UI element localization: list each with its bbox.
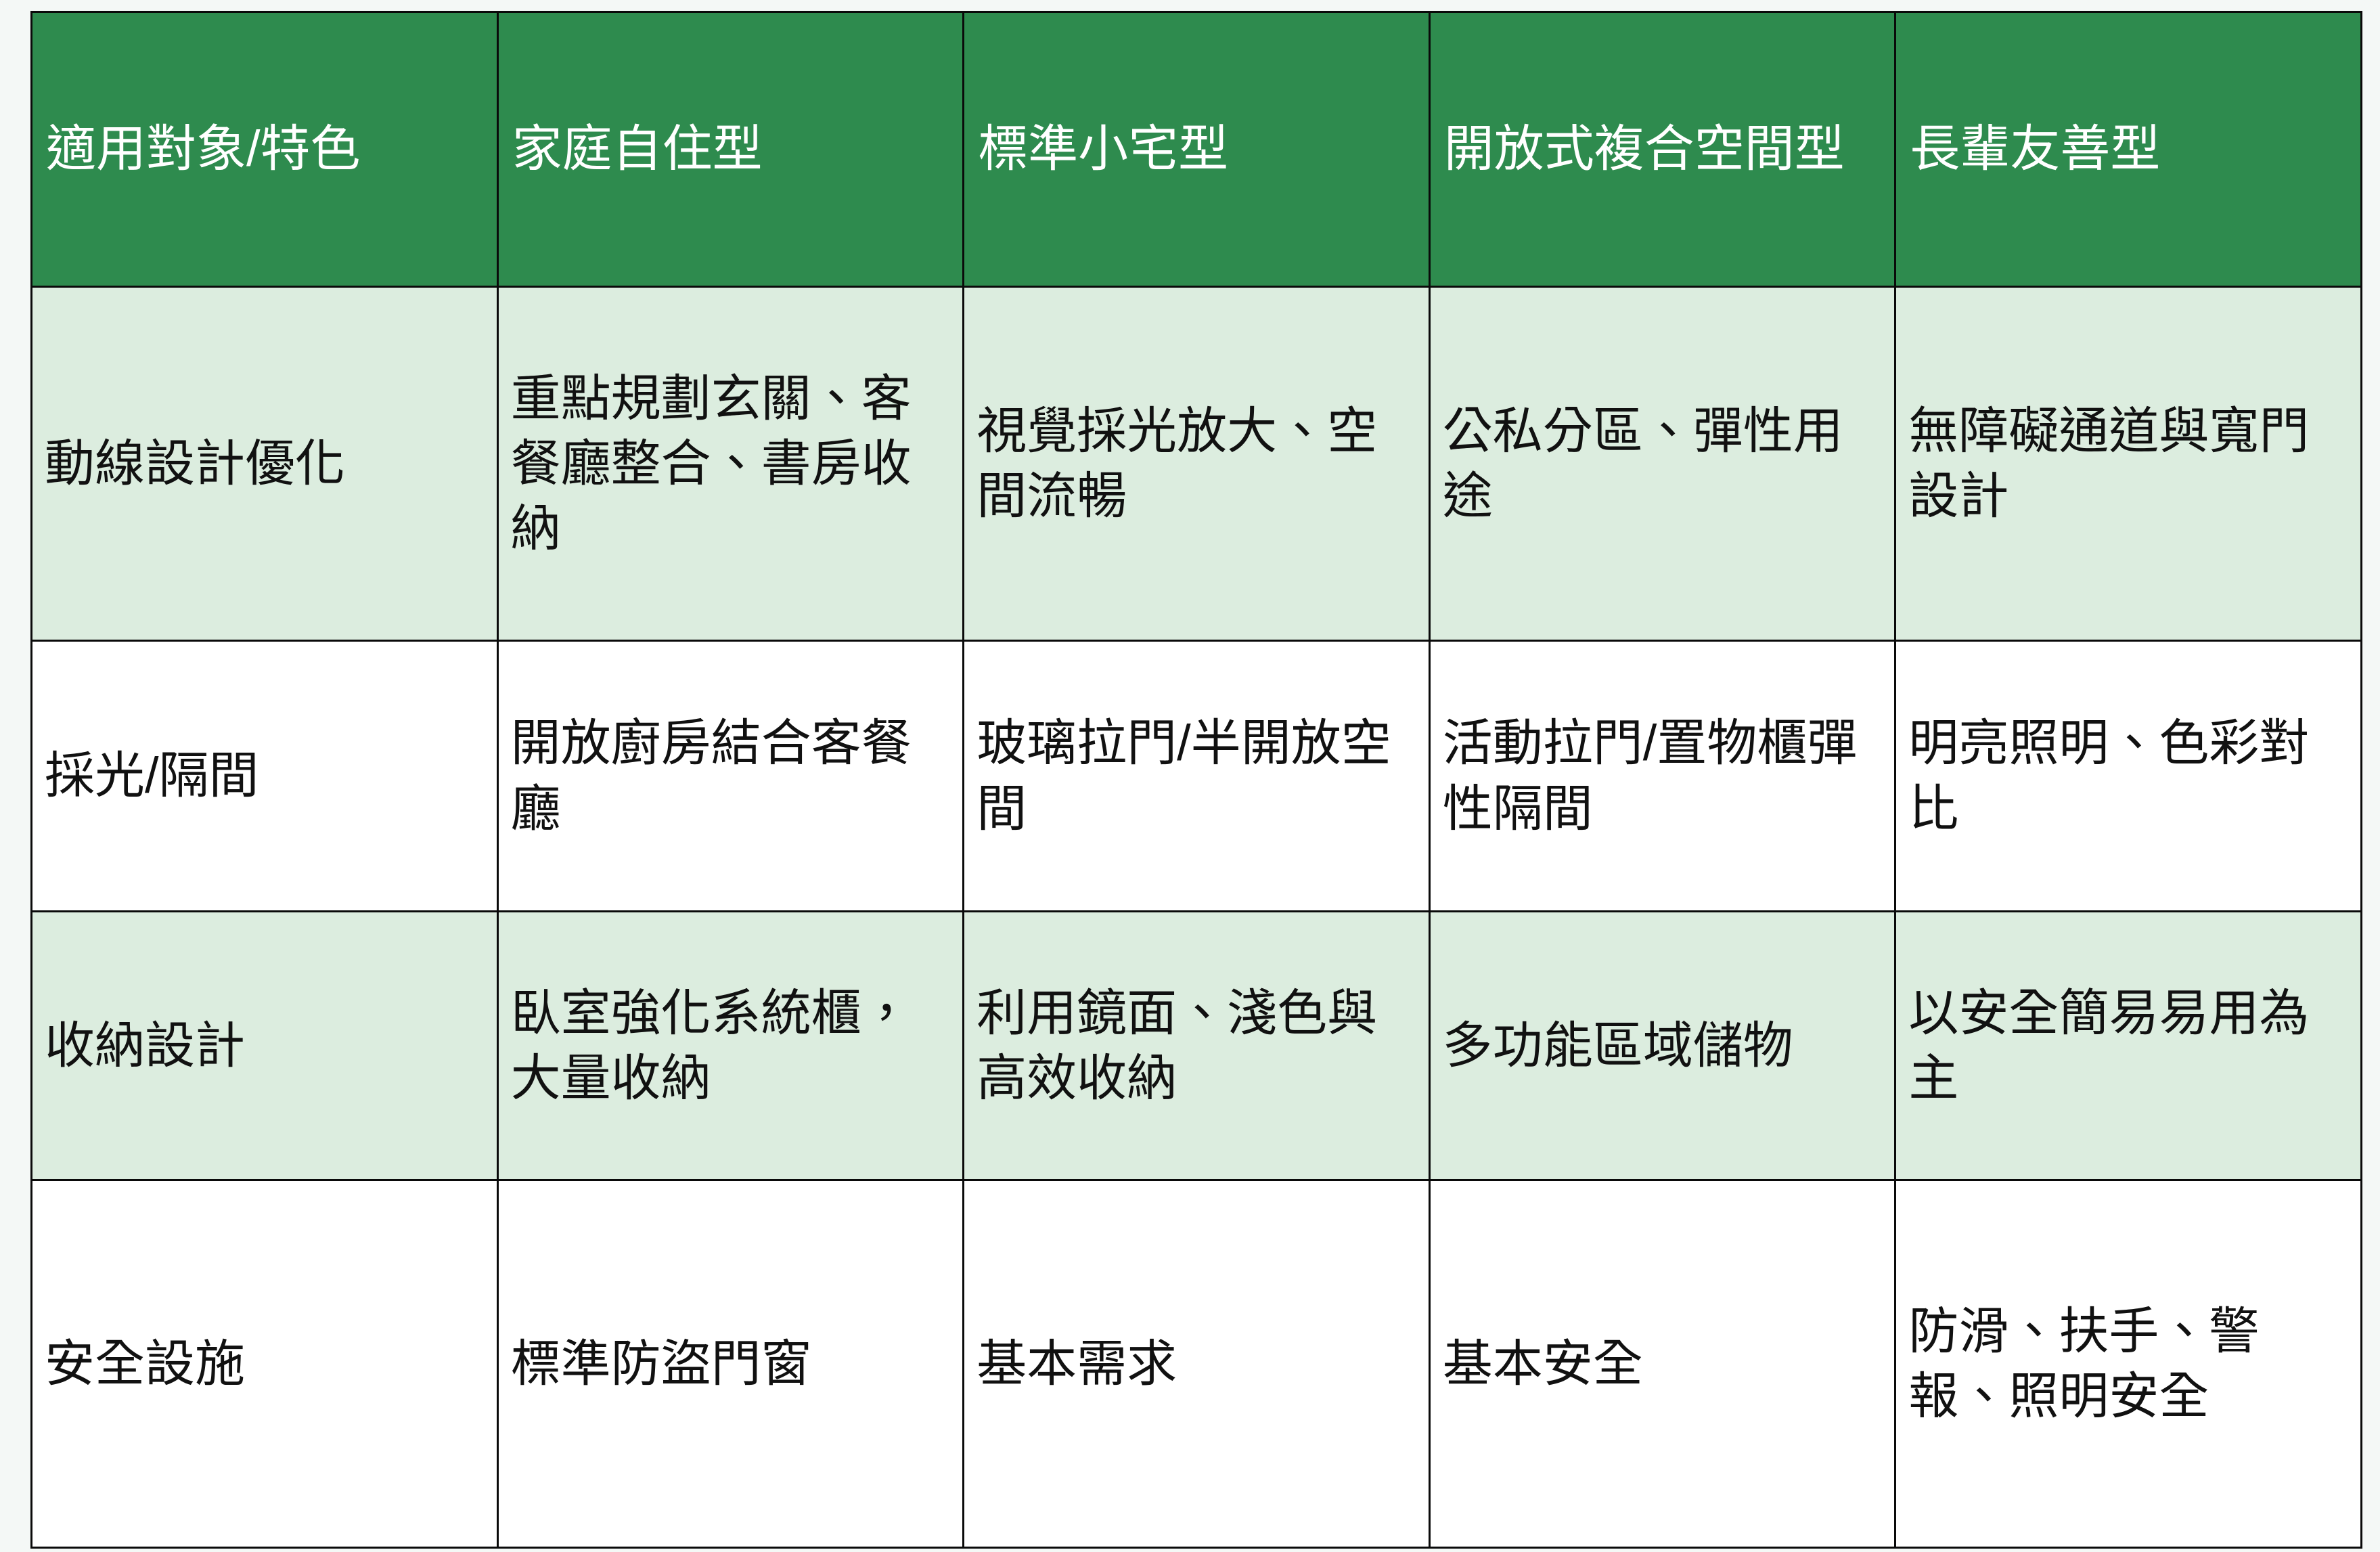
comparison-table: 適用對象/特色 家庭自住型 標準小宅型 開放式複合空間型 長輩友善型 動線設計優… [30,11,2362,1549]
table-row: 動線設計優化 重點規劃玄關、客餐廳整合、書房收納 視覺採光放大、空間流暢 公私分… [32,287,2362,641]
cell-lighting-senior: 明亮照明、色彩對比 [1895,641,2362,912]
row-label-safety-facilities: 安全設施 [32,1180,498,1548]
cell-safety-compact: 基本需求 [964,1180,1430,1548]
cell-circulation-family: 重點規劃玄關、客餐廳整合、書房收納 [497,287,964,641]
row-label-lighting-partition: 採光/隔間 [32,641,498,912]
cell-circulation-senior: 無障礙通道與寬門設計 [1895,287,2362,641]
comparison-table-container: 適用對象/特色 家庭自住型 標準小宅型 開放式複合空間型 長輩友善型 動線設計優… [30,11,2362,1546]
cell-circulation-open: 公私分區、彈性用途 [1429,287,1895,641]
table-body: 動線設計優化 重點規劃玄關、客餐廳整合、書房收納 視覺採光放大、空間流暢 公私分… [32,287,2362,1548]
cell-circulation-compact: 視覺採光放大、空間流暢 [964,287,1430,641]
table-header: 適用對象/特色 家庭自住型 標準小宅型 開放式複合空間型 長輩友善型 [32,12,2362,287]
column-header-criteria: 適用對象/特色 [32,12,498,287]
cell-lighting-family: 開放廚房結合客餐廳 [497,641,964,912]
cell-storage-open: 多功能區域儲物 [1429,912,1895,1180]
cell-safety-senior: 防滑、扶手、警報、照明安全 [1895,1180,2362,1548]
cell-lighting-compact: 玻璃拉門/半開放空間 [964,641,1430,912]
cell-storage-senior: 以安全簡易易用為主 [1895,912,2362,1180]
row-label-storage-design: 收納設計 [32,912,498,1180]
table-row: 收納設計 臥室強化系統櫃，大量收納 利用鏡面、淺色與高效收納 多功能區域儲物 以… [32,912,2362,1180]
cell-storage-compact: 利用鏡面、淺色與高效收納 [964,912,1430,1180]
column-header-standard-compact: 標準小宅型 [964,12,1430,287]
cell-storage-family: 臥室強化系統櫃，大量收納 [497,912,964,1180]
table-row: 安全設施 標準防盜門窗 基本需求 基本安全 防滑、扶手、警報、照明安全 [32,1180,2362,1548]
column-header-family-residence: 家庭自住型 [497,12,964,287]
cell-safety-family: 標準防盜門窗 [497,1180,964,1548]
table-row: 採光/隔間 開放廚房結合客餐廳 玻璃拉門/半開放空間 活動拉門/置物櫃彈性隔間 … [32,641,2362,912]
column-header-senior-friendly: 長輩友善型 [1895,12,2362,287]
row-label-circulation-design: 動線設計優化 [32,287,498,641]
cell-lighting-open: 活動拉門/置物櫃彈性隔間 [1429,641,1895,912]
header-row: 適用對象/特色 家庭自住型 標準小宅型 開放式複合空間型 長輩友善型 [32,12,2362,287]
cell-safety-open: 基本安全 [1429,1180,1895,1548]
column-header-open-mixed-space: 開放式複合空間型 [1429,12,1895,287]
